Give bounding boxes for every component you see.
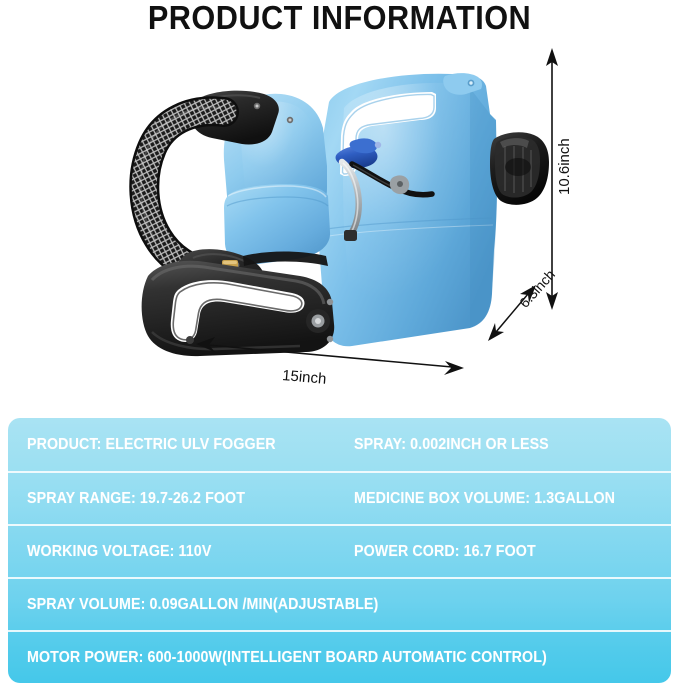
- spec-medicine-box-volume: MEDICINE BOX VOLUME: 1.3GALLON: [354, 490, 646, 508]
- spec-row-spray-volume: SPRAY VOLUME: 0.09GALLON /MIN(ADJUSTABLE…: [8, 577, 671, 630]
- spec-product: PRODUCT: ELECTRIC ULV FOGGER: [27, 436, 328, 454]
- page-title: PRODUCT INFORMATION: [24, 0, 655, 36]
- pistol-grip: [142, 261, 335, 356]
- spec-row-product-and-spray: PRODUCT: ELECTRIC ULV FOGGER SPRAY: 0.00…: [8, 418, 671, 471]
- spec-row-voltage-and-power-cord: WORKING VOLTAGE: 110V POWER CORD: 16.7 F…: [8, 524, 671, 577]
- spec-spray: SPRAY: 0.002INCH OR LESS: [354, 436, 646, 454]
- spec-row-spray-range-and-medicine-box: SPRAY RANGE: 19.7-26.2 FOOT MEDICINE BOX…: [8, 471, 671, 524]
- spec-spray-range: SPRAY RANGE: 19.7-26.2 FOOT: [27, 490, 328, 508]
- spec-spray-volume: SPRAY VOLUME: 0.09GALLON /MIN(ADJUSTABLE…: [27, 596, 607, 614]
- tank-filler-cap: [490, 132, 549, 205]
- spec-power-cord: POWER CORD: 16.7 FOOT: [354, 543, 646, 561]
- product-photo: [0, 36, 679, 416]
- dimension-label-height: 10.6inch: [556, 138, 573, 195]
- specification-table: PRODUCT: ELECTRIC ULV FOGGER SPRAY: 0.00…: [8, 418, 671, 683]
- spec-working-voltage: WORKING VOLTAGE: 110V: [27, 543, 328, 561]
- spec-motor-power: MOTOR POWER: 600-1000W(INTELLIGENT BOARD…: [27, 649, 607, 667]
- spec-row-motor-power: MOTOR POWER: 600-1000W(INTELLIGENT BOARD…: [8, 630, 671, 683]
